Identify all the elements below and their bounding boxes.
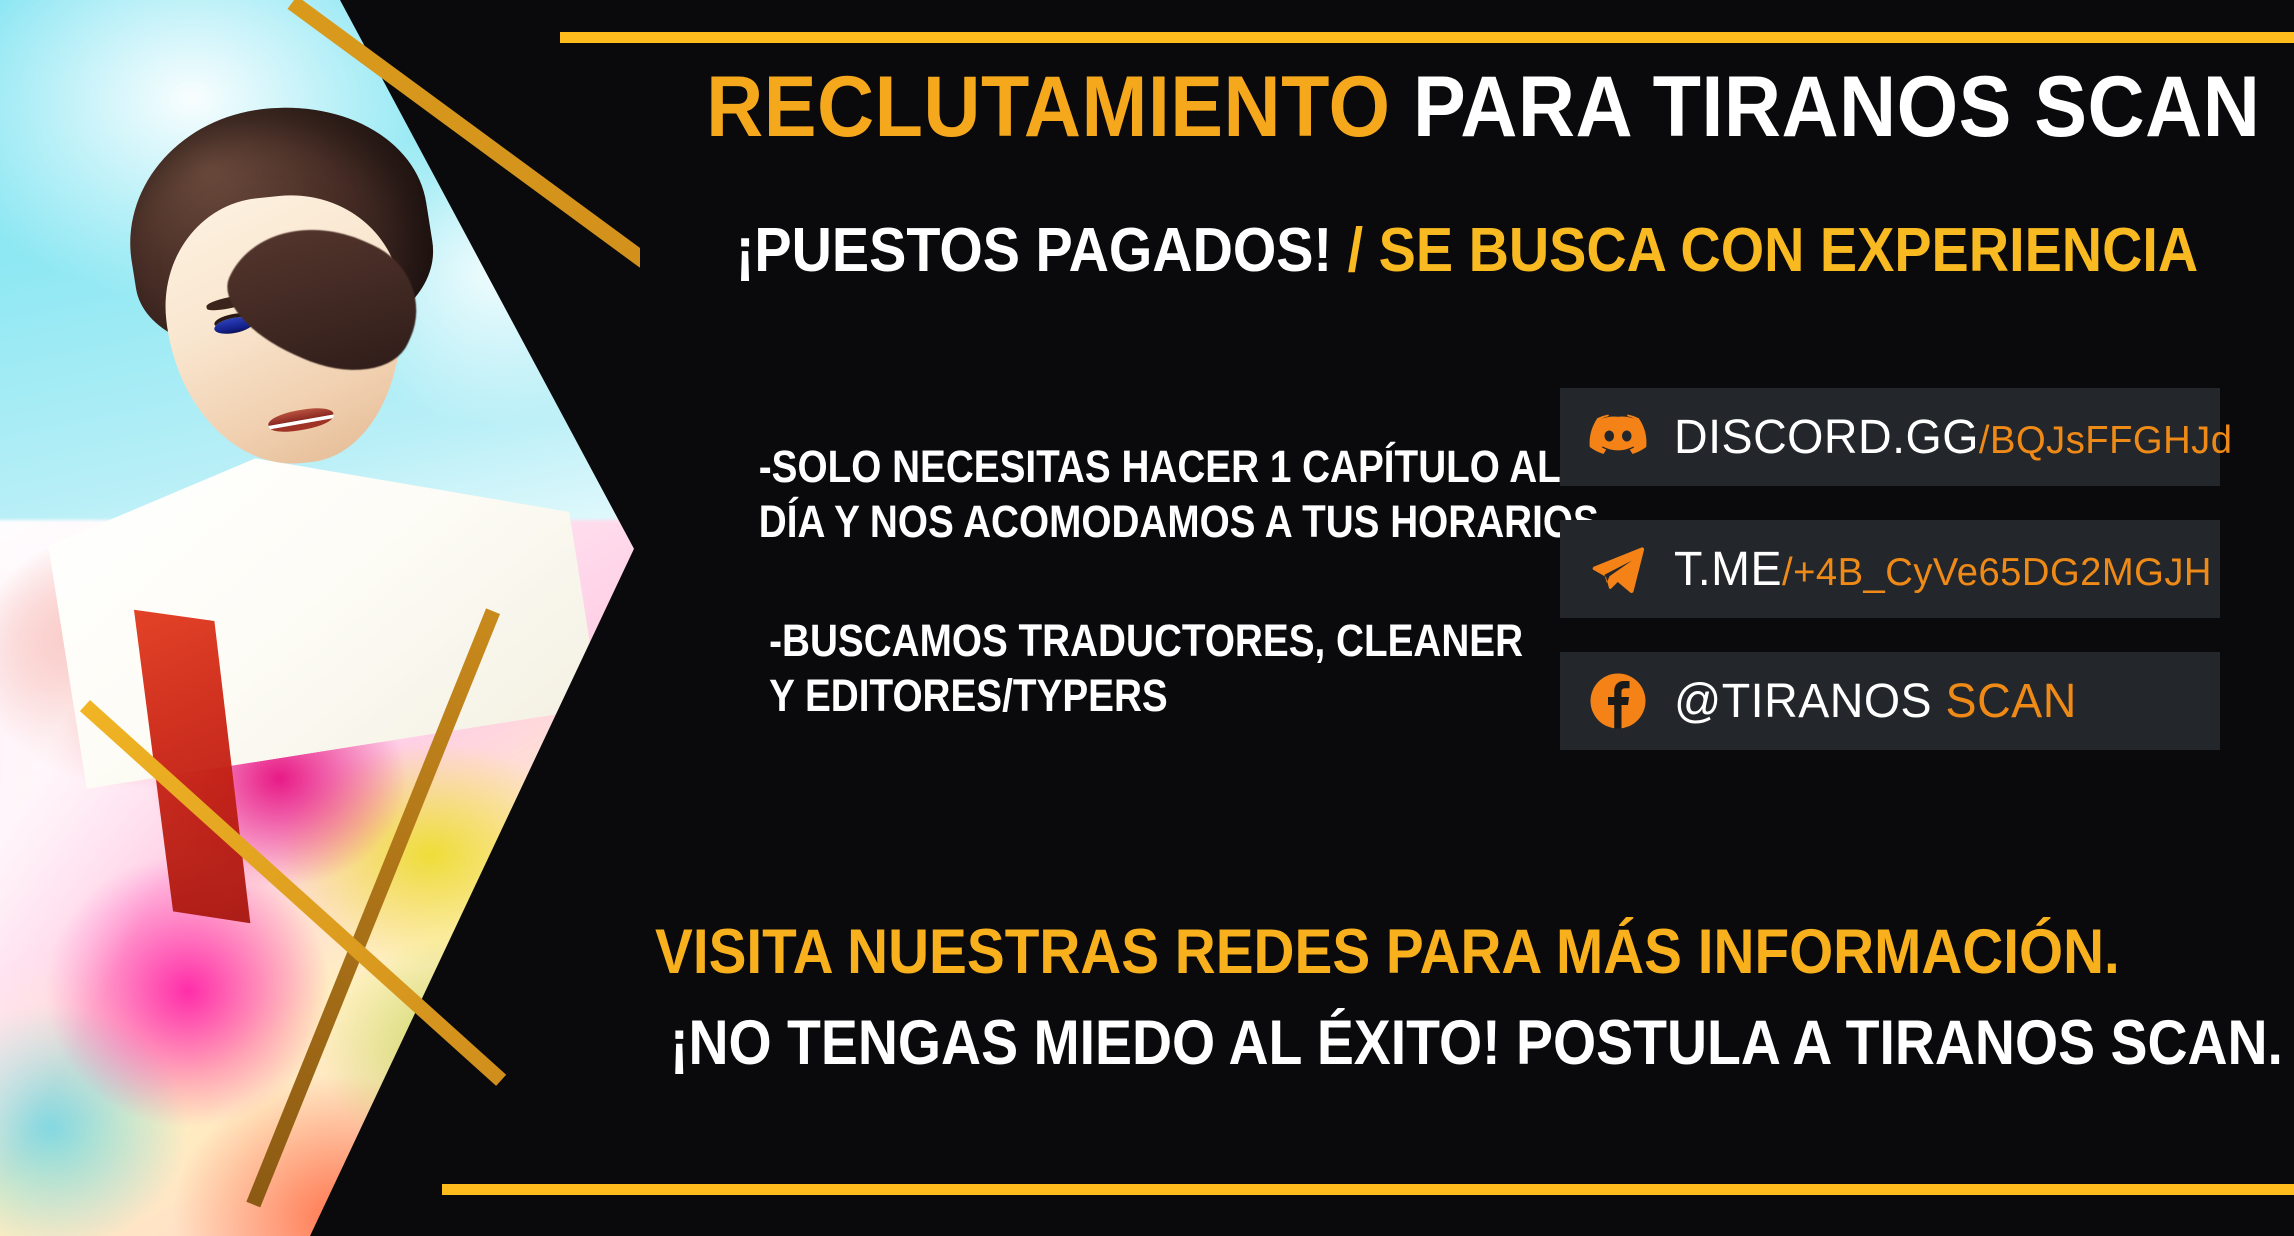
gold-rule-bottom: [442, 1184, 2294, 1195]
contact-facebook-label: @TIRANOS SCAN: [1674, 674, 2077, 729]
headline: RECLUTAMIENTO PARA TIRANOS SCAN: [706, 62, 2228, 153]
contact-discord-domain: DISCORD.GG: [1674, 411, 1979, 464]
gold-rule-top: [560, 32, 2294, 43]
cta-line-2: ¡NO TENGAS MIEDO AL ÉXITO! POSTULA A TIR…: [670, 1009, 1990, 1078]
call-to-action: VISITA NUESTRAS REDES PARA MÁS INFORMACI…: [580, 918, 2080, 1079]
contact-list: DISCORD.GG/BQJsFFGHJd T.ME/+4B_CyVe65DG2…: [1560, 388, 2220, 784]
headline-orange: RECLUTAMIENTO: [706, 59, 1390, 155]
bullet-item-1: -SOLO NECESITAS HACER 1 CAPÍTULO AL DÍA …: [759, 440, 1481, 550]
subheadline: ¡PUESTOS PAGADOS! / SE BUSCA CON EXPERIE…: [723, 218, 2212, 283]
artwork-panel: [0, 0, 640, 1236]
contact-telegram-domain: T.ME: [1674, 543, 1782, 596]
discord-icon: [1588, 407, 1648, 467]
bullet-item-2: -BUSCAMOS TRADUCTORES, CLEANER Y EDITORE…: [759, 614, 1481, 724]
contact-facebook-handle: @TIRANOS: [1674, 675, 1932, 728]
cta-line-1: VISITA NUESTRAS REDES PARA MÁS INFORMACI…: [655, 918, 2005, 987]
contact-facebook-suffix: SCAN: [1946, 675, 2077, 728]
contact-telegram[interactable]: T.ME/+4B_CyVe65DG2MGJH: [1560, 520, 2220, 618]
contact-telegram-label: T.ME/+4B_CyVe65DG2MGJH: [1674, 542, 2212, 597]
headline-white: PARA TIRANOS SCAN: [1413, 59, 2260, 155]
bullet-2-line-2: Y EDITORES/TYPERS: [769, 669, 1481, 724]
recruitment-banner: RECLUTAMIENTO PARA TIRANOS SCAN ¡PUESTOS…: [0, 0, 2294, 1236]
contact-telegram-code: /+4B_CyVe65DG2MGJH: [1782, 550, 2212, 594]
requirements-list: -SOLO NECESITAS HACER 1 CAPÍTULO AL DÍA …: [700, 440, 1540, 724]
facebook-icon: [1588, 671, 1648, 731]
contact-facebook[interactable]: @TIRANOS SCAN: [1560, 652, 2220, 750]
contact-discord[interactable]: DISCORD.GG/BQJsFFGHJd: [1560, 388, 2220, 486]
bullet-1-line-1: -SOLO NECESITAS HACER 1 CAPÍTULO AL: [759, 440, 1481, 495]
subheadline-orange: / SE BUSCA CON EXPERIENCIA: [1348, 216, 2199, 285]
bullet-1-line-2: DÍA Y NOS ACOMODAMOS A TUS HORARIOS: [759, 495, 1481, 550]
bullet-2-line-1: -BUSCAMOS TRADUCTORES, CLEANER: [769, 614, 1481, 669]
contact-discord-code: /BQJsFFGHJd: [1979, 418, 2233, 462]
subheadline-white: ¡PUESTOS PAGADOS!: [736, 216, 1332, 285]
contact-discord-label: DISCORD.GG/BQJsFFGHJd: [1674, 410, 2232, 465]
telegram-icon: [1588, 539, 1648, 599]
